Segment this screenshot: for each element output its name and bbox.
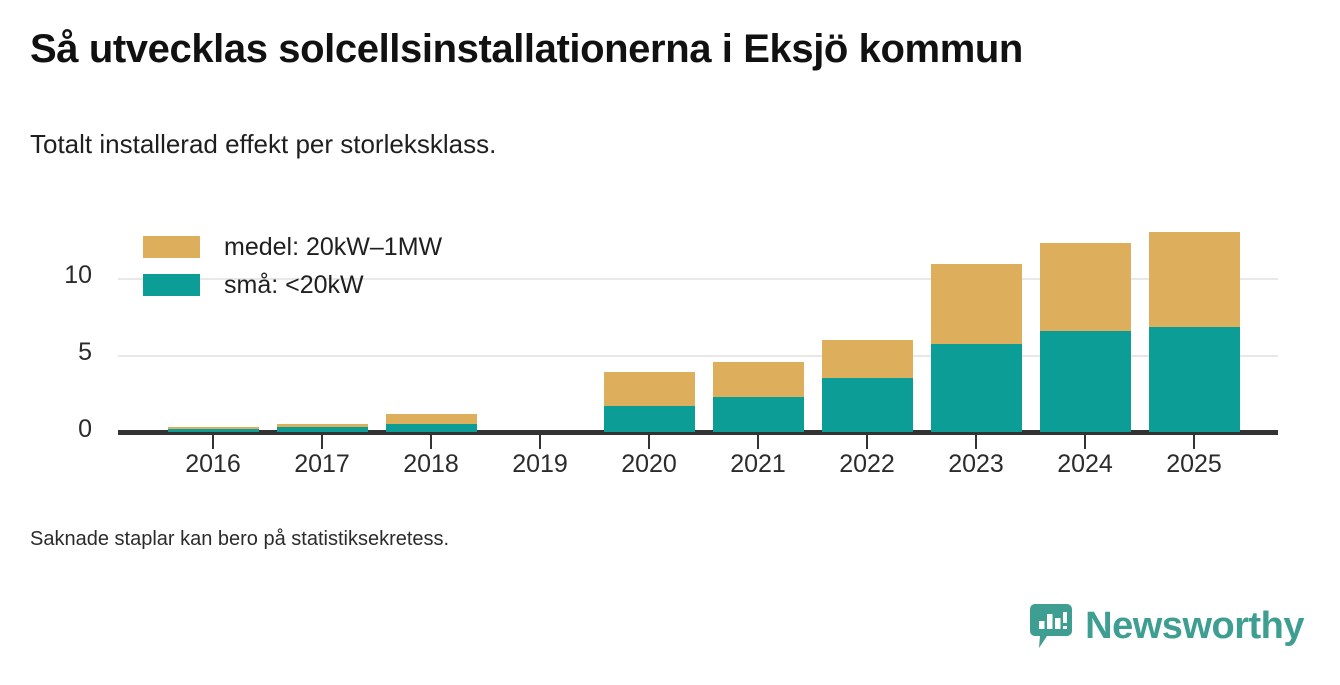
legend-swatch-small-icon (143, 274, 200, 296)
y-axis-tick-label-0: 0 (22, 415, 92, 444)
bar-segment-medium-2025[interactable] (1149, 232, 1240, 327)
x-axis-tick-label-2024: 2024 (1030, 450, 1140, 479)
legend-label-medium: medel: 20kW–1MW (224, 233, 442, 262)
chart-footnote: Saknade staplar kan bero på statistiksek… (30, 528, 449, 551)
legend-item-medium[interactable]: medel: 20kW–1MW (143, 228, 442, 266)
x-axis-tick-2021 (757, 435, 759, 449)
bar-2020[interactable] (604, 372, 695, 432)
x-axis-tick-2024 (1084, 435, 1086, 449)
x-axis-tick-2022 (866, 435, 868, 449)
bar-chart-speech-bubble-icon (1030, 604, 1072, 648)
x-axis-tick-label-2025: 2025 (1139, 450, 1249, 479)
bar-segment-medium-2018[interactable] (386, 414, 477, 423)
x-axis-tick-label-2022: 2022 (812, 450, 922, 479)
bar-segment-small-2021[interactable] (713, 397, 804, 432)
bar-segment-small-2016[interactable] (168, 429, 259, 432)
x-axis-tick-2016 (212, 435, 214, 449)
x-axis-tick-2019 (539, 435, 541, 449)
bar-segment-small-2023[interactable] (931, 344, 1022, 432)
legend-item-small[interactable]: små: <20kW (143, 266, 442, 304)
x-axis-tick-2020 (648, 435, 650, 449)
legend-label-small: små: <20kW (224, 271, 364, 300)
bar-segment-small-2025[interactable] (1149, 327, 1240, 432)
logo-wordmark: Newsworthy (1085, 607, 1304, 645)
x-axis-tick-label-2018: 2018 (376, 450, 486, 479)
y-axis-tick-label-10: 10 (22, 261, 92, 290)
x-axis-tick-label-2021: 2021 (703, 450, 813, 479)
x-axis-tick-2025 (1193, 435, 1195, 449)
legend-swatch-medium-icon (143, 236, 200, 258)
bar-segment-small-2022[interactable] (822, 378, 913, 432)
bar-2022[interactable] (822, 340, 913, 432)
bar-2024[interactable] (1040, 243, 1131, 432)
x-axis-tick-label-2019: 2019 (485, 450, 595, 479)
bar-segment-medium-2021[interactable] (713, 362, 804, 397)
x-axis-tick-label-2016: 2016 (158, 450, 268, 479)
bar-segment-small-2020[interactable] (604, 406, 695, 432)
bar-2018[interactable] (386, 414, 477, 432)
bar-2023[interactable] (931, 264, 1022, 432)
x-axis-tick-label-2023: 2023 (921, 450, 1031, 479)
x-axis-tick-label-2020: 2020 (594, 450, 704, 479)
bar-segment-small-2018[interactable] (386, 424, 477, 432)
bar-2016[interactable] (168, 427, 259, 432)
bar-segment-medium-2023[interactable] (931, 264, 1022, 344)
bar-segment-small-2017[interactable] (277, 427, 368, 432)
bar-2021[interactable] (713, 362, 804, 432)
bar-segment-small-2024[interactable] (1040, 331, 1131, 432)
bar-2017[interactable] (277, 424, 368, 432)
chart-legend: medel: 20kW–1MW små: <20kW (143, 228, 442, 304)
x-axis-tick-2023 (975, 435, 977, 449)
y-axis-tick-label-5: 5 (22, 338, 92, 367)
x-axis-tick-2017 (321, 435, 323, 449)
x-axis-tick-label-2017: 2017 (267, 450, 377, 479)
bar-segment-medium-2022[interactable] (822, 340, 913, 379)
newsworthy-logo[interactable]: Newsworthy (1030, 604, 1304, 648)
bar-segment-medium-2020[interactable] (604, 372, 695, 406)
bar-segment-medium-2024[interactable] (1040, 243, 1131, 332)
x-axis-tick-2018 (430, 435, 432, 449)
bar-2025[interactable] (1149, 232, 1240, 432)
